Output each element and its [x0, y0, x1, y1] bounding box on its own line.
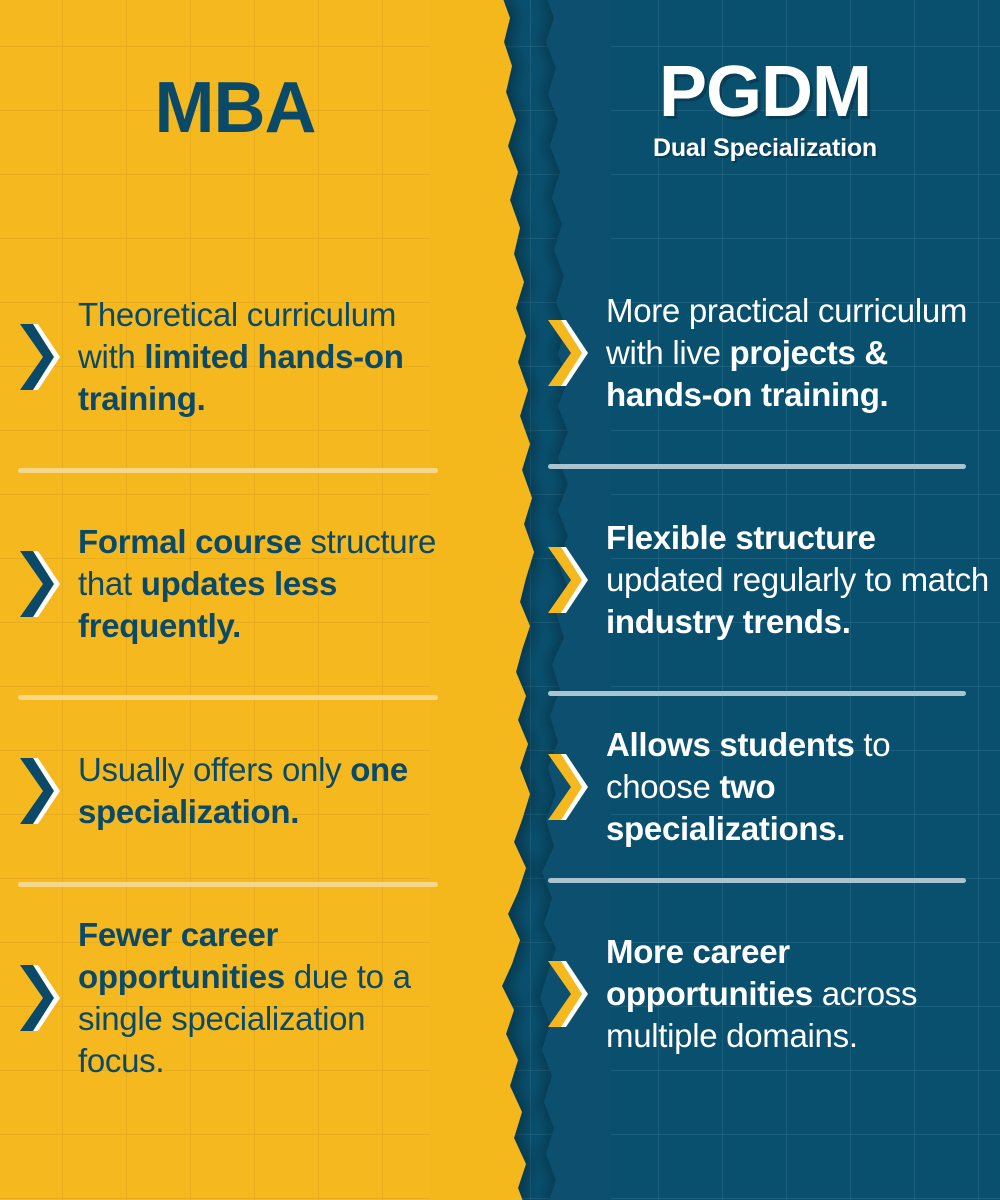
mba-feature-list: Theoretical curriculum with limited hand…: [0, 262, 470, 1093]
list-item: Fewer career opportunities due to a sing…: [0, 903, 470, 1093]
text-segment: updated regularly to match: [606, 561, 989, 598]
chevron-right-icon: [546, 316, 592, 390]
list-item-text: More career opportunities across multipl…: [606, 931, 1000, 1058]
mba-column: MBA Theoretical curriculum with limited …: [0, 0, 470, 1200]
list-item-text: Allows students to choose two specializa…: [606, 724, 1000, 851]
pgdm-subtitle: Dual Specialization: [530, 134, 1000, 163]
text-segment-bold: Flexible structure: [606, 519, 876, 556]
list-item: Formal course structure that updates les…: [0, 489, 470, 679]
text-segment: Usually offers only: [78, 751, 350, 788]
list-item-text: Fewer career opportunities due to a sing…: [78, 914, 448, 1083]
chevron-right-icon: [18, 320, 64, 394]
divider: [18, 882, 438, 887]
list-item: More career opportunities across multipl…: [530, 899, 1000, 1089]
mba-title: MBA: [0, 72, 470, 144]
list-item: Usually offers only one specialization.: [0, 716, 470, 866]
divider: [548, 691, 966, 696]
text-segment-bold: Allows students: [606, 726, 863, 763]
chevron-right-icon: [546, 750, 592, 824]
chevron-right-icon: [546, 543, 592, 617]
mba-header: MBA: [0, 72, 470, 144]
divider: [18, 468, 438, 473]
list-item-text: Usually offers only one specialization.: [78, 749, 448, 833]
text-segment-bold: Formal course: [78, 523, 310, 560]
list-item: Theoretical curriculum with limited hand…: [0, 262, 470, 452]
chevron-right-icon: [546, 957, 592, 1031]
pgdm-title: PGDM: [530, 56, 1000, 128]
text-segment-bold: More career opportunities: [606, 933, 822, 1012]
chevron-right-icon: [18, 547, 64, 621]
list-item-text: Theoretical curriculum with limited hand…: [78, 294, 448, 421]
pgdm-header: PGDM Dual Specialization: [530, 56, 1000, 163]
list-item-text: Formal course structure that updates les…: [78, 521, 448, 648]
divider: [548, 878, 966, 883]
comparison-infographic: MBA Theoretical curriculum with limited …: [0, 0, 1000, 1200]
chevron-right-icon: [18, 754, 64, 828]
list-item: Allows students to choose two specializa…: [530, 712, 1000, 862]
divider: [18, 695, 438, 700]
pgdm-feature-list: More practical curriculum with live proj…: [530, 258, 1000, 1089]
list-item-text: More practical curriculum with live proj…: [606, 290, 1000, 417]
text-segment-bold: Fewer career opportunities: [78, 916, 294, 995]
list-item-text: Flexible structure updated regularly to …: [606, 517, 1000, 644]
list-item: More practical curriculum with live proj…: [530, 258, 1000, 448]
chevron-right-icon: [18, 961, 64, 1035]
divider: [548, 464, 966, 469]
text-segment-bold: industry trends.: [606, 603, 851, 640]
list-item: Flexible structure updated regularly to …: [530, 485, 1000, 675]
pgdm-column: PGDM Dual Specialization More practical …: [530, 0, 1000, 1200]
